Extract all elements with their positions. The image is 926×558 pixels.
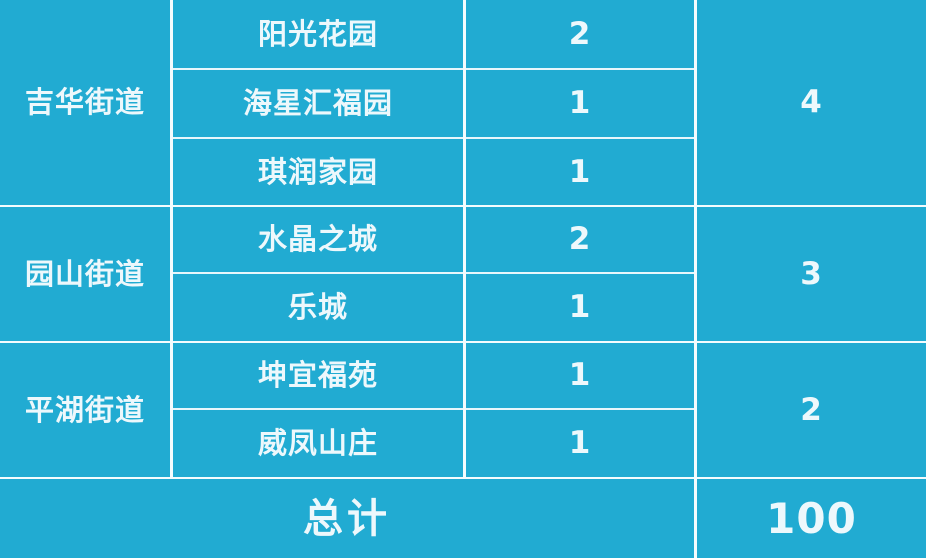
community-count-cell: 1 [466, 410, 694, 477]
street-name-cell: 园山街道 [0, 207, 170, 341]
total-label-cell: 总计 [0, 479, 694, 558]
community-name-cell: 琪润家园 [173, 139, 463, 205]
street-name-cell: 吉华街道 [0, 0, 170, 205]
community-name-cell: 威凤山庄 [173, 410, 463, 477]
row-divider [173, 68, 694, 70]
column-divider [694, 0, 697, 558]
street-name-cell: 平湖街道 [0, 343, 170, 477]
total-divider [0, 477, 926, 479]
group-divider [0, 205, 926, 207]
community-count-cell: 1 [466, 343, 694, 408]
community-count-cell: 1 [466, 70, 694, 137]
column-divider [170, 0, 173, 477]
group-divider [0, 341, 926, 343]
column-divider [463, 0, 466, 477]
street-subtotal-cell: 3 [697, 207, 926, 341]
community-name-cell: 阳光花园 [173, 0, 463, 68]
community-count-cell: 1 [466, 274, 694, 341]
total-value-cell: 100 [697, 479, 926, 558]
community-count-cell: 2 [466, 207, 694, 272]
community-name-cell: 海星汇福园 [173, 70, 463, 137]
street-subtotal-cell: 4 [697, 0, 926, 205]
community-count-cell: 1 [466, 139, 694, 205]
row-divider [173, 137, 694, 139]
community-name-cell: 水晶之城 [173, 207, 463, 272]
community-count-cell: 2 [466, 0, 694, 68]
statistics-table: 吉华街道 阳光花园 2 海星汇福园 1 琪润家园 1 4 园山街道 水晶之城 2… [0, 0, 926, 558]
row-divider [173, 272, 694, 274]
community-name-cell: 乐城 [173, 274, 463, 341]
street-subtotal-cell: 2 [697, 343, 926, 477]
community-name-cell: 坤宜福苑 [173, 343, 463, 408]
row-divider [173, 408, 694, 410]
